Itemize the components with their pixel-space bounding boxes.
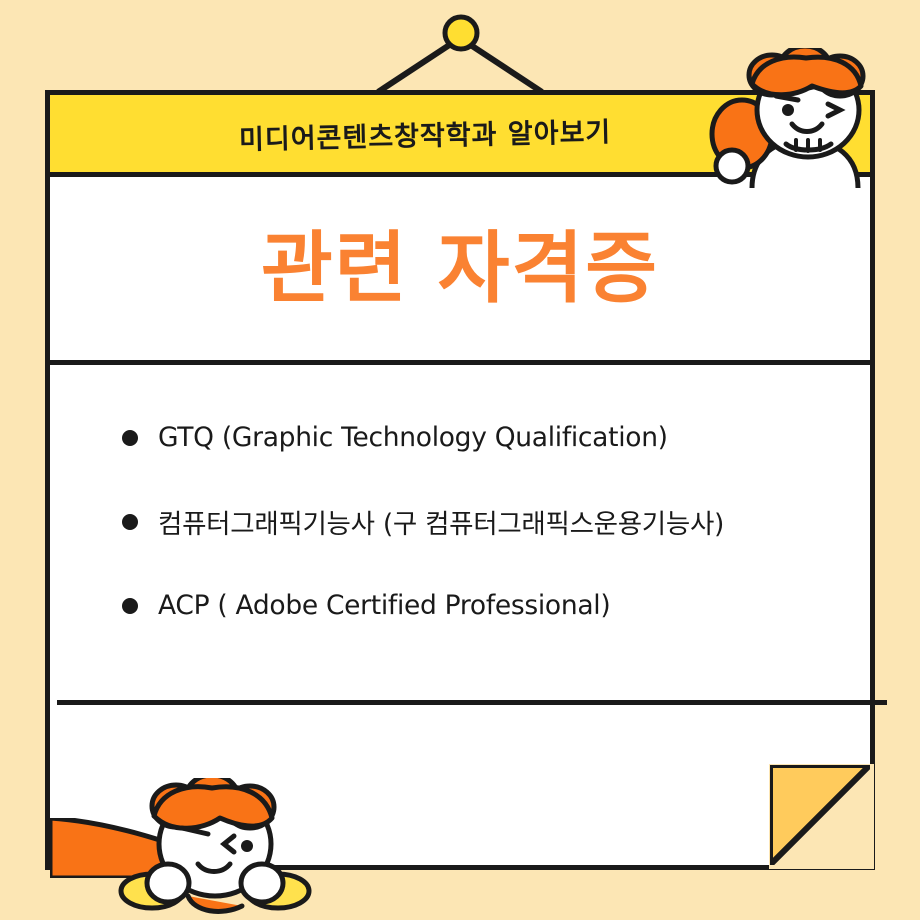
bottom-divider-rule [57,700,887,705]
list-item-label: 컴퓨터그래픽기능사 (구 컴퓨터그래픽스운용기능사) [158,502,724,541]
list-item: 컴퓨터그래픽기능사 (구 컴퓨터그래픽스운용기능사) [122,502,870,541]
list-item: GTQ (Graphic Technology Qualification) [122,422,870,453]
list-item-label: GTQ (Graphic Technology Qualification) [158,422,668,453]
bullet-dot-icon [122,430,138,446]
eye-icon [782,104,794,116]
mascot-winking-icon [110,778,325,918]
page-title: 관련 자격증 [261,230,659,308]
bullet-dot-icon [122,598,138,614]
list-item: ACP ( Adobe Certified Professional) [122,590,870,621]
title-section: 관련 자격증 [50,177,870,365]
mascot-with-paddle-icon [700,48,910,188]
hanging-string-left-icon [378,38,460,92]
list-item-label: ACP ( Adobe Certified Professional) [158,590,610,621]
header-title: 미디어콘텐츠창작학과 알아보기 [239,110,612,157]
eye-icon [241,840,253,852]
certificate-list: GTQ (Graphic Technology Qualification) 컴… [50,370,870,670]
hanging-string-right-icon [460,38,542,92]
nail-circle-icon [445,17,477,49]
poster-canvas: 미디어콘텐츠창작학과 알아보기 관련 자격증 GTQ (Graphic Tech… [0,0,920,920]
bullet-dot-icon [122,514,138,530]
page-fold-corner-icon [770,765,870,865]
content-card: 미디어콘텐츠창작학과 알아보기 관련 자격증 GTQ (Graphic Tech… [45,90,875,870]
